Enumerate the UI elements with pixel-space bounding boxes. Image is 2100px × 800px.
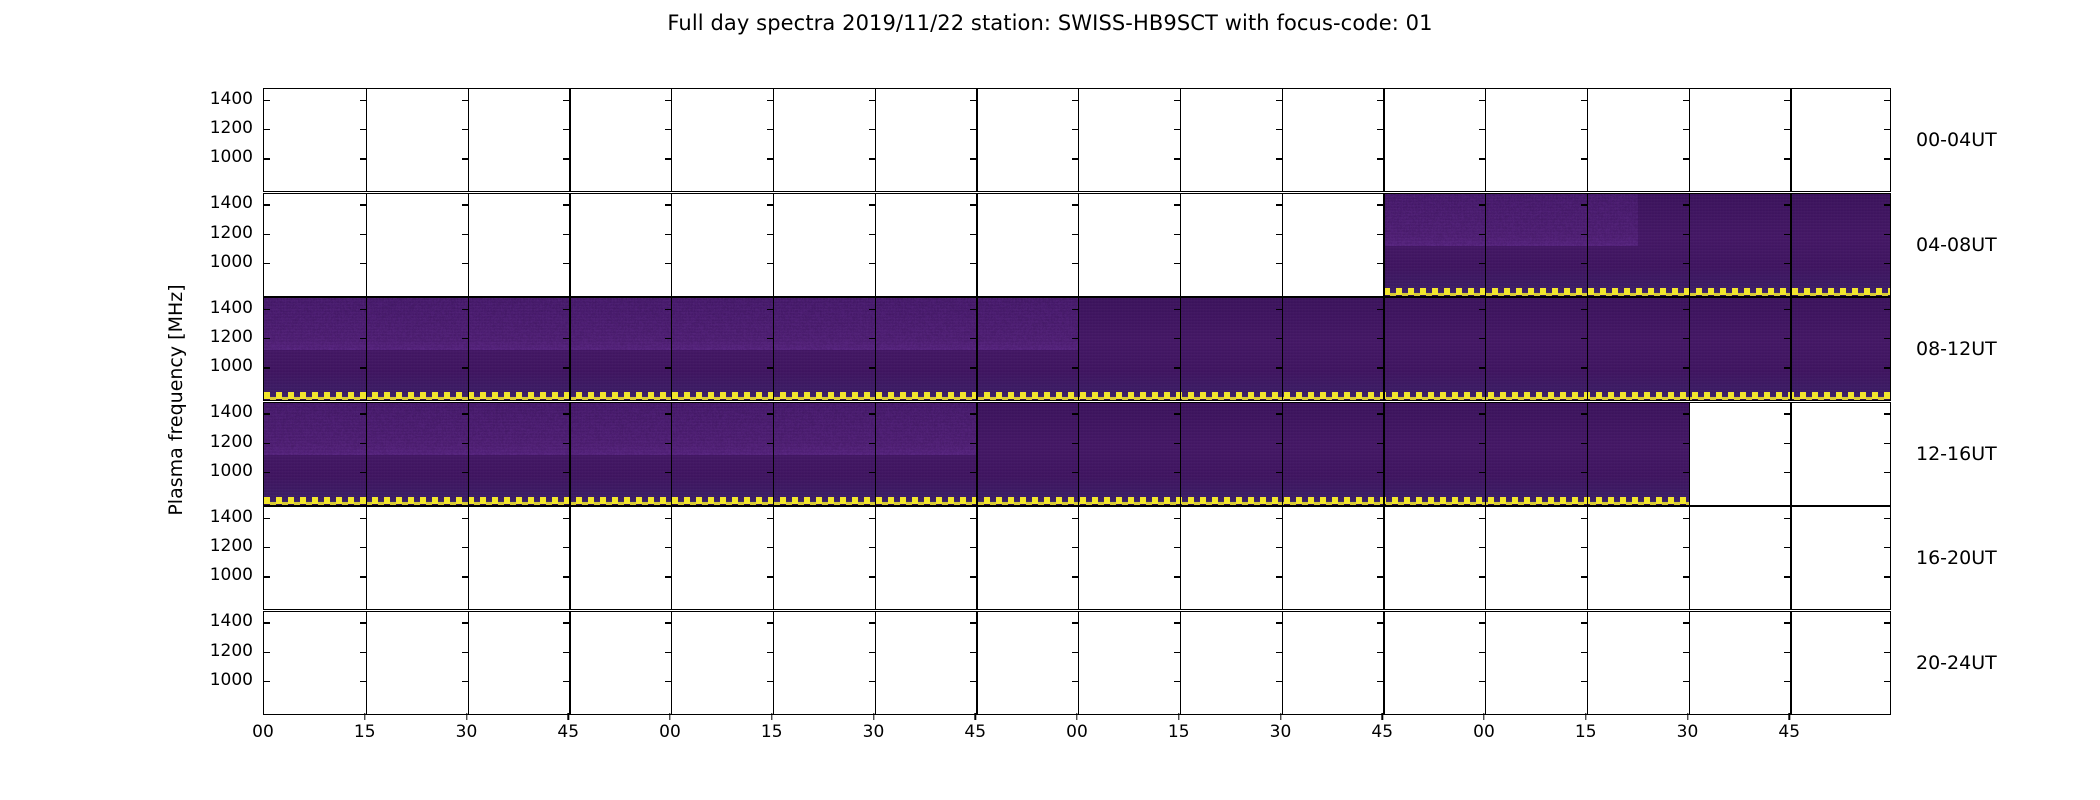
x-tick-label: 30 (863, 722, 885, 742)
y-tick-mark (665, 518, 671, 519)
y-tick-mark (665, 158, 671, 159)
vertical-gridline (773, 403, 774, 505)
y-tick-mark (563, 338, 569, 339)
y-tick-mark (1174, 413, 1180, 414)
y-tick-mark (360, 576, 366, 577)
plot-area (264, 194, 1890, 296)
y-tick-mark (563, 129, 569, 130)
y-tick-mark (1683, 338, 1689, 339)
vertical-gridline (773, 89, 774, 191)
y-tick-mark-right (1884, 309, 1890, 310)
y-tick-mark (1276, 547, 1282, 548)
y-tick-mark-left (264, 204, 270, 205)
y-tick-mark (665, 413, 671, 414)
y-tick-mark (1479, 309, 1485, 310)
y-tick-mark (970, 338, 976, 339)
y-tick-mark (462, 204, 468, 205)
x-tick-label: 30 (1270, 722, 1292, 742)
y-tick-mark (869, 367, 875, 368)
y-tick-mark (665, 263, 671, 264)
vertical-gridline (1383, 403, 1384, 505)
y-tick-mark (462, 652, 468, 653)
y-tick-mark (1072, 547, 1078, 548)
y-tick-mark (1174, 367, 1180, 368)
y-tick-mark (1479, 443, 1485, 444)
y-tick-mark (767, 367, 773, 368)
y-tick-mark (1683, 576, 1689, 577)
y-tick-mark (1072, 158, 1078, 159)
y-tick-mark (1072, 443, 1078, 444)
y-tick-label: 1400 (193, 611, 253, 631)
y-tick-mark (1276, 367, 1282, 368)
y-tick-mark (665, 472, 671, 473)
y-tick-mark (1479, 576, 1485, 577)
y-tick-label: 1000 (193, 565, 253, 585)
y-tick-mark-left (264, 518, 270, 519)
y-tick-mark (767, 158, 773, 159)
vertical-gridline (1078, 612, 1079, 714)
y-tick-mark (1683, 367, 1689, 368)
y-tick-mark (462, 129, 468, 130)
vertical-gridline (875, 89, 876, 191)
row-labels: 00-04UT04-08UT08-12UT12-16UT16-20UT20-24… (1916, 88, 2096, 713)
page-title: Full day spectra 2019/11/22 station: SWI… (0, 11, 2100, 35)
y-tick-mark (563, 547, 569, 548)
y-tick-mark-left (264, 129, 270, 130)
y-tick-mark (1581, 263, 1587, 264)
y-tick-mark (1377, 472, 1383, 473)
y-tick-mark (970, 622, 976, 623)
vertical-gridline (1078, 194, 1079, 296)
y-tick-mark-left (264, 338, 270, 339)
vertical-gridline (569, 612, 570, 714)
y-tick-label: 1200 (193, 432, 253, 452)
vertical-gridline (366, 89, 367, 191)
y-tick-mark (1072, 100, 1078, 101)
spectrogram-noise-texture (264, 403, 976, 455)
y-tick-mark (1174, 652, 1180, 653)
vertical-gridline (1078, 507, 1079, 609)
y-tick-mark (1276, 443, 1282, 444)
y-tick-mark (1174, 518, 1180, 519)
y-tick-mark (1784, 413, 1790, 414)
spectrogram-data-block (1384, 194, 1890, 296)
vertical-gridline (976, 403, 977, 505)
vertical-gridline (976, 194, 977, 296)
vertical-gridline (366, 507, 367, 609)
y-tick-mark (462, 100, 468, 101)
y-tick-mark-left (264, 622, 270, 623)
vertical-gridline (1587, 403, 1588, 505)
x-tick-label: 15 (1168, 722, 1190, 742)
y-tick-mark (360, 100, 366, 101)
row-label-12-16ut: 12-16UT (1916, 443, 1997, 465)
y-tick-mark (767, 338, 773, 339)
y-tick-mark (1174, 622, 1180, 623)
y-tick-mark (1784, 100, 1790, 101)
x-axis-tick-labels: 00153045001530450015304500153045 (263, 722, 1891, 752)
vertical-gridline (1078, 403, 1079, 505)
x-tick-label: 30 (1677, 722, 1699, 742)
y-tick-mark-right (1884, 547, 1890, 548)
y-tick-mark (869, 263, 875, 264)
spectrogram-data-block (264, 298, 1890, 400)
y-tick-label: 1000 (193, 147, 253, 167)
y-tick-mark (1174, 443, 1180, 444)
vertical-gridline (1689, 612, 1690, 714)
y-tick-mark (767, 622, 773, 623)
y-tick-mark-right (1884, 622, 1890, 623)
y-tick-mark (1377, 263, 1383, 264)
vertical-gridline (1282, 89, 1283, 191)
y-tick-mark (767, 234, 773, 235)
vertical-gridline (468, 89, 469, 191)
vertical-gridline (1689, 298, 1690, 400)
y-tick-label: 1200 (193, 223, 253, 243)
y-tick-mark (665, 234, 671, 235)
y-tick-mark (970, 263, 976, 264)
y-tick-mark (869, 472, 875, 473)
y-tick-mark (1377, 129, 1383, 130)
vertical-gridline (1689, 194, 1690, 296)
emission-line-dashed (1384, 288, 1890, 295)
y-tick-mark (1377, 204, 1383, 205)
y-tick-mark-right (1884, 367, 1890, 368)
y-tick-mark (1479, 129, 1485, 130)
y-tick-mark (360, 443, 366, 444)
row-label-16-20ut: 16-20UT (1916, 547, 1997, 569)
y-tick-mark (563, 413, 569, 414)
y-tick-mark (563, 367, 569, 368)
y-tick-mark-right (1884, 129, 1890, 130)
y-tick-mark (1683, 547, 1689, 548)
y-tick-mark (563, 204, 569, 205)
y-tick-mark (462, 309, 468, 310)
vertical-gridline (671, 403, 672, 505)
y-tick-mark (1377, 100, 1383, 101)
y-tick-mark (1683, 263, 1689, 264)
y-tick-mark (869, 100, 875, 101)
y-tick-mark (1683, 652, 1689, 653)
y-tick-mark (665, 576, 671, 577)
vertical-gridline (366, 403, 367, 505)
y-tick-mark (1581, 158, 1587, 159)
vertical-gridline (1383, 89, 1384, 191)
vertical-gridline (1790, 403, 1791, 505)
y-tick-mark (767, 204, 773, 205)
vertical-gridline (1485, 298, 1486, 400)
y-tick-mark (1683, 204, 1689, 205)
vertical-gridline (366, 298, 367, 400)
y-tick-mark-left (264, 576, 270, 577)
y-tick-mark-right (1884, 100, 1890, 101)
y-tick-mark (970, 652, 976, 653)
y-tick-mark (1479, 652, 1485, 653)
y-tick-mark (1276, 576, 1282, 577)
panel-row-20-24ut (263, 611, 1891, 715)
y-tick-mark (665, 443, 671, 444)
y-tick-mark-right (1884, 681, 1890, 682)
y-tick-mark (1072, 129, 1078, 130)
vertical-gridline (1180, 298, 1181, 400)
y-tick-mark (1784, 652, 1790, 653)
y-tick-mark (1784, 204, 1790, 205)
y-tick-mark (1479, 100, 1485, 101)
vertical-gridline (1282, 194, 1283, 296)
x-tick-mark (466, 713, 467, 720)
y-tick-label: 1400 (193, 298, 253, 318)
y-tick-mark (767, 443, 773, 444)
y-tick-mark (869, 234, 875, 235)
y-tick-mark (1072, 576, 1078, 577)
y-tick-mark (1276, 652, 1282, 653)
y-tick-mark (767, 652, 773, 653)
y-tick-mark (1276, 472, 1282, 473)
y-tick-mark (665, 681, 671, 682)
y-tick-mark (1072, 263, 1078, 264)
spectrogram-noise-texture (1384, 194, 1638, 246)
vertical-gridline (468, 403, 469, 505)
y-tick-mark (767, 547, 773, 548)
vertical-gridline (875, 298, 876, 400)
y-tick-label: 1000 (193, 461, 253, 481)
y-tick-mark-left (264, 652, 270, 653)
y-tick-mark (1276, 338, 1282, 339)
vertical-gridline (1790, 507, 1791, 609)
y-tick-mark (665, 338, 671, 339)
y-tick-mark (462, 472, 468, 473)
y-tick-mark (1581, 518, 1587, 519)
x-tick-mark (1280, 713, 1281, 720)
x-tick-label: 00 (1066, 722, 1088, 742)
y-tick-mark (767, 518, 773, 519)
y-tick-label: 1400 (193, 193, 253, 213)
y-tick-mark (767, 309, 773, 310)
y-tick-mark (1784, 472, 1790, 473)
y-tick-mark (767, 263, 773, 264)
y-tick-mark (1276, 413, 1282, 414)
y-tick-mark (1174, 309, 1180, 310)
y-tick-mark (1377, 622, 1383, 623)
x-tick-label: 00 (252, 722, 274, 742)
vertical-gridline (1078, 298, 1079, 400)
y-tick-mark (1784, 129, 1790, 130)
plot-area (264, 507, 1890, 609)
y-tick-mark (970, 234, 976, 235)
vertical-gridline (773, 507, 774, 609)
x-tick-label: 15 (761, 722, 783, 742)
vertical-gridline (1587, 507, 1588, 609)
y-tick-mark (1174, 158, 1180, 159)
y-tick-mark (1377, 576, 1383, 577)
y-tick-mark (1784, 622, 1790, 623)
y-tick-mark (563, 100, 569, 101)
y-tick-mark-left (264, 100, 270, 101)
y-tick-mark-right (1884, 338, 1890, 339)
y-tick-mark (360, 547, 366, 548)
panel-row-12-16ut (263, 402, 1891, 506)
vertical-gridline (468, 194, 469, 296)
vertical-gridline (976, 612, 977, 714)
y-tick-mark (970, 129, 976, 130)
y-tick-mark (1276, 263, 1282, 264)
y-tick-mark (1683, 622, 1689, 623)
y-tick-mark (1377, 234, 1383, 235)
y-tick-mark (869, 622, 875, 623)
y-tick-mark (1072, 652, 1078, 653)
y-tick-mark-left (264, 681, 270, 682)
y-tick-mark (1377, 518, 1383, 519)
y-tick-mark (1581, 129, 1587, 130)
y-axis-tick-labels: 1400120010001400120010001400120010001400… (189, 88, 253, 713)
y-tick-mark (563, 622, 569, 623)
vertical-gridline (366, 612, 367, 714)
vertical-gridline (875, 194, 876, 296)
y-tick-label: 1000 (193, 252, 253, 272)
vertical-gridline (1180, 194, 1181, 296)
y-tick-mark (1581, 309, 1587, 310)
vertical-gridline (1180, 403, 1181, 505)
y-tick-mark (360, 622, 366, 623)
vertical-gridline (569, 194, 570, 296)
plot-area (264, 403, 1890, 505)
y-tick-mark (1479, 158, 1485, 159)
vertical-gridline (773, 194, 774, 296)
y-tick-mark (1377, 309, 1383, 310)
y-tick-mark (1174, 547, 1180, 548)
x-tick-label: 00 (659, 722, 681, 742)
y-tick-mark (1276, 681, 1282, 682)
y-tick-mark (1683, 309, 1689, 310)
y-tick-mark (360, 263, 366, 264)
vertical-gridline (671, 89, 672, 191)
y-tick-mark (360, 338, 366, 339)
y-tick-mark (767, 413, 773, 414)
x-tick-label: 00 (1473, 722, 1495, 742)
y-tick-mark (869, 681, 875, 682)
x-tick-mark (1687, 713, 1688, 720)
vertical-gridline (468, 298, 469, 400)
y-tick-mark-left (264, 158, 270, 159)
y-tick-mark (665, 547, 671, 548)
y-tick-mark (970, 547, 976, 548)
y-tick-mark (1784, 576, 1790, 577)
y-tick-mark (869, 338, 875, 339)
y-tick-mark (1581, 100, 1587, 101)
y-tick-mark (462, 518, 468, 519)
y-tick-mark (1377, 413, 1383, 414)
vertical-gridline (1790, 89, 1791, 191)
y-tick-mark (1784, 443, 1790, 444)
y-tick-mark (1479, 681, 1485, 682)
y-tick-mark (1174, 472, 1180, 473)
vertical-gridline (1485, 507, 1486, 609)
y-tick-mark (1174, 129, 1180, 130)
vertical-gridline (1790, 612, 1791, 714)
y-tick-mark (563, 443, 569, 444)
y-tick-mark (1174, 576, 1180, 577)
y-tick-mark-left (264, 443, 270, 444)
y-tick-mark (1377, 547, 1383, 548)
y-tick-mark (1683, 518, 1689, 519)
vertical-gridline (1587, 194, 1588, 296)
y-tick-mark (1784, 547, 1790, 548)
vertical-gridline (1485, 612, 1486, 714)
y-tick-mark (1479, 338, 1485, 339)
y-tick-mark (665, 309, 671, 310)
y-tick-mark (1377, 367, 1383, 368)
y-tick-mark (869, 158, 875, 159)
y-tick-mark (1581, 367, 1587, 368)
y-tick-mark (869, 576, 875, 577)
y-tick-mark (1784, 518, 1790, 519)
y-tick-mark (1784, 234, 1790, 235)
vertical-gridline (1180, 89, 1181, 191)
x-tick-mark (568, 713, 569, 720)
y-tick-mark (1276, 309, 1282, 310)
vertical-gridline (468, 612, 469, 714)
y-tick-mark (563, 309, 569, 310)
y-tick-mark (1377, 158, 1383, 159)
y-tick-mark (1072, 338, 1078, 339)
y-tick-mark (1581, 413, 1587, 414)
vertical-gridline (569, 507, 570, 609)
y-tick-mark (970, 100, 976, 101)
y-tick-mark (462, 622, 468, 623)
vertical-gridline (1485, 89, 1486, 191)
y-axis-label: Plasma frequency [MHz] (165, 284, 187, 515)
y-tick-mark (1072, 472, 1078, 473)
vertical-gridline (671, 194, 672, 296)
x-tick-label: 45 (1778, 722, 1800, 742)
x-tick-mark (1483, 713, 1484, 720)
y-tick-label: 1000 (193, 356, 253, 376)
vertical-gridline (875, 612, 876, 714)
y-tick-mark (1174, 263, 1180, 264)
y-tick-mark (970, 681, 976, 682)
vertical-gridline (1282, 507, 1283, 609)
y-tick-label: 1200 (193, 118, 253, 138)
vertical-gridline (1587, 612, 1588, 714)
y-tick-mark (869, 204, 875, 205)
vertical-gridline (1078, 89, 1079, 191)
panel-stack (263, 88, 1891, 713)
y-tick-mark (1479, 204, 1485, 205)
y-tick-mark (1377, 443, 1383, 444)
y-tick-mark (1276, 129, 1282, 130)
y-tick-mark (970, 576, 976, 577)
y-tick-mark (1683, 129, 1689, 130)
vertical-gridline (1383, 194, 1384, 296)
y-tick-mark (767, 681, 773, 682)
y-tick-mark (970, 413, 976, 414)
y-tick-mark (665, 100, 671, 101)
y-tick-mark (1479, 622, 1485, 623)
y-tick-mark (462, 413, 468, 414)
row-label-08-12ut: 08-12UT (1916, 338, 1997, 360)
y-tick-mark (1581, 547, 1587, 548)
y-tick-mark (563, 472, 569, 473)
y-tick-mark (1581, 472, 1587, 473)
y-tick-mark-right (1884, 263, 1890, 264)
y-tick-mark (1683, 100, 1689, 101)
y-tick-mark (1479, 547, 1485, 548)
y-tick-mark (1581, 443, 1587, 444)
y-tick-mark (1276, 518, 1282, 519)
y-tick-mark-left (264, 367, 270, 368)
y-tick-mark (360, 158, 366, 159)
y-tick-mark (360, 652, 366, 653)
